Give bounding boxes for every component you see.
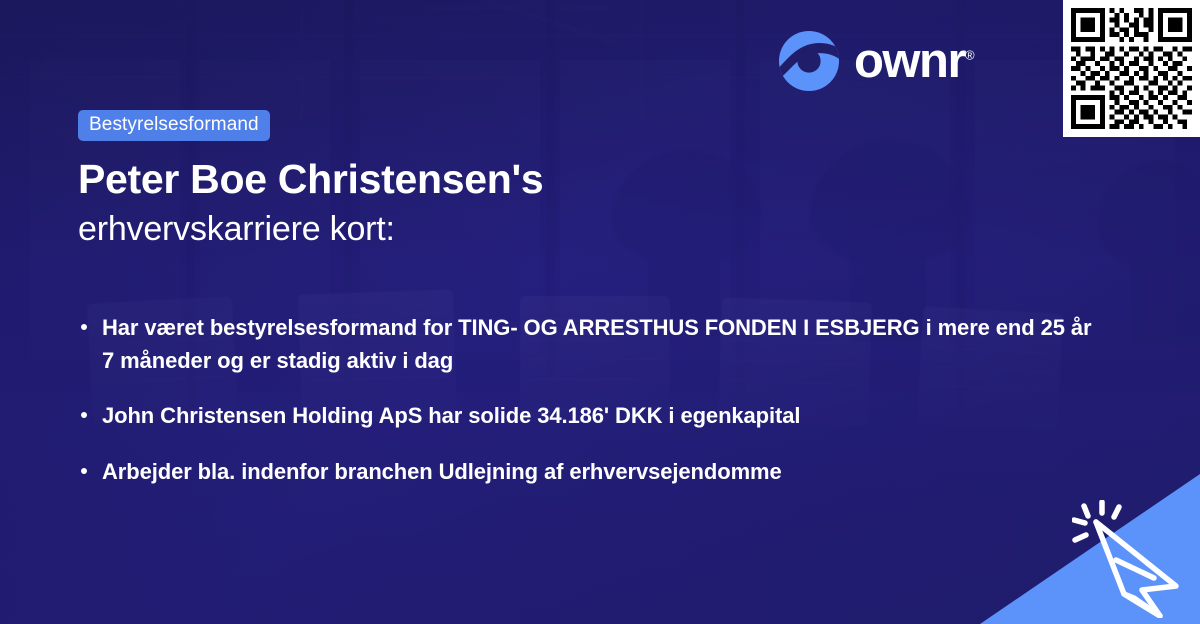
logo-text: ownr (854, 34, 965, 88)
click-cursor-icon (1072, 500, 1194, 618)
list-item-text: John Christensen Holding ApS har solide … (102, 403, 800, 428)
ownr-logo[interactable]: ownr® (778, 30, 975, 92)
ownr-wordmark: ownr® (854, 37, 975, 86)
list-item: John Christensen Holding ApS har solide … (78, 400, 1108, 433)
qr-code-image (1071, 8, 1192, 129)
list-item-text: Arbejder bla. indenfor branchen Udlejnin… (102, 459, 782, 484)
headline-block: Bestyrelsesformand Peter Boe Christensen… (78, 110, 1088, 250)
page-subtitle: erhvervskarriere kort: (78, 209, 1088, 250)
promo-card: ownr® Bestyrelsesformand Peter Boe Chris… (0, 0, 1200, 624)
ownr-circle-logo-icon (778, 30, 840, 92)
bullet-dot (81, 324, 87, 330)
registered-mark: ® (965, 47, 975, 62)
bullet-dot (81, 412, 87, 418)
role-badge: Bestyrelsesformand (78, 110, 270, 141)
list-item: Arbejder bla. indenfor branchen Udlejnin… (78, 456, 1108, 489)
fact-list: Har været bestyrelsesformand for TING- O… (78, 312, 1108, 488)
list-item: Har været bestyrelsesformand for TING- O… (78, 312, 1108, 377)
list-item-text: Har været bestyrelsesformand for TING- O… (102, 315, 1092, 373)
page-title: Peter Boe Christensen's (78, 157, 1088, 203)
bullet-dot (81, 468, 87, 474)
